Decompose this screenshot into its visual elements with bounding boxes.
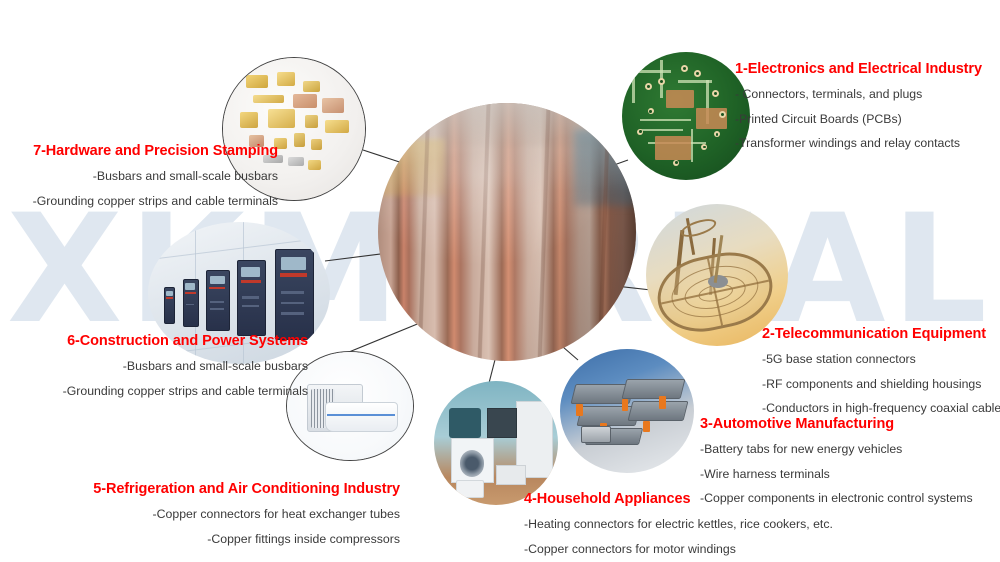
section-4-heading: 4-Household Appliances: [524, 490, 833, 508]
section-2-bullet-1: -5G base station connectors: [762, 351, 1000, 368]
section-6-bullet-1: -Busbars and small-scale busbars: [8, 358, 308, 375]
section-7-heading: 7-Hardware and Precision Stamping: [8, 142, 278, 160]
section-3-bullet-1: -Battery tabs for new energy vehicles: [700, 441, 973, 458]
section-7-text: 7-Hardware and Precision Stamping -Busba…: [8, 142, 278, 209]
section-5-heading: 5-Refrigeration and Air Conditioning Ind…: [70, 480, 400, 498]
section-2-bullet-2: -RF components and shielding housings: [762, 376, 1000, 393]
section-4-bullet-2: -Copper connectors for motor windings: [524, 541, 833, 558]
section-7-bullet-2: -Grounding copper strips and cable termi…: [8, 193, 278, 210]
section-1-bullet-1: - Connectors, terminals, and plugs: [735, 86, 982, 103]
center-image-copper-coil: [378, 103, 636, 361]
section-2-text: 2-Telecommunication Equipment -5G base s…: [762, 325, 1000, 417]
section-6-heading: 6-Construction and Power Systems: [8, 332, 308, 350]
section-6-bullet-2: -Grounding copper strips and cable termi…: [8, 383, 308, 400]
section-4-text: 4-Household Appliances -Heating connecto…: [524, 490, 833, 557]
section-3-heading: 3-Automotive Manufacturing: [700, 415, 973, 433]
section-1-bullet-2: -Printed Circuit Boards (PCBs): [735, 111, 982, 128]
section-5-bullet-1: -Copper connectors for heat exchanger tu…: [70, 506, 400, 523]
section-2-heading: 2-Telecommunication Equipment: [762, 325, 1000, 343]
image-home-appliances: [434, 381, 558, 505]
section-7-bullet-1: -Busbars and small-scale busbars: [8, 168, 278, 185]
section-3-bullet-2: -Wire harness terminals: [700, 466, 973, 483]
section-4-bullet-1: -Heating connectors for electric kettles…: [524, 516, 833, 533]
image-ev-battery-pack: [560, 349, 694, 473]
section-5-text: 5-Refrigeration and Air Conditioning Ind…: [70, 480, 400, 547]
section-1-bullet-3: -Transformer windings and relay contacts: [735, 135, 982, 152]
section-6-text: 6-Construction and Power Systems -Busbar…: [8, 332, 308, 399]
section-1-heading: 1-Electronics and Electrical Industry: [735, 60, 982, 78]
section-5-bullet-2: -Copper fittings inside compressors: [70, 531, 400, 548]
image-printed-circuit-board: [622, 52, 750, 180]
infographic-canvas: XKMOREAL: [0, 0, 1000, 562]
section-1-text: 1-Electronics and Electrical Industry - …: [735, 60, 982, 152]
